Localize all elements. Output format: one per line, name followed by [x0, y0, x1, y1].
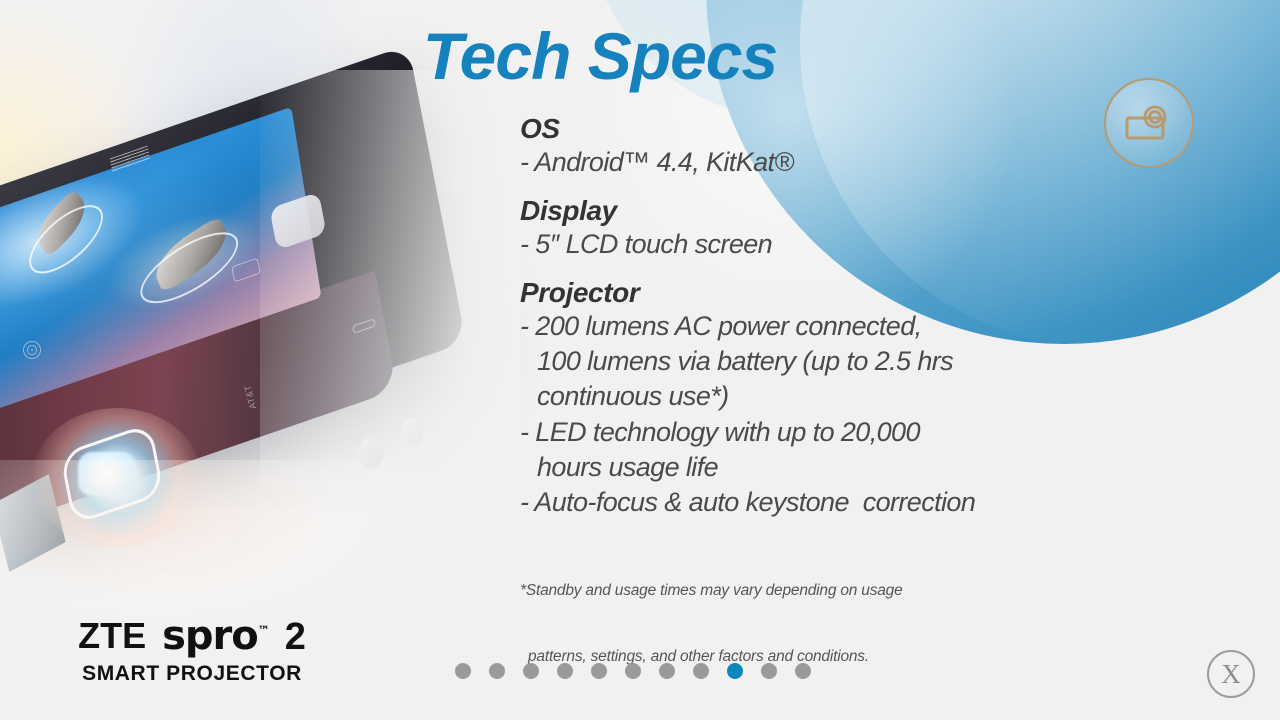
spec-heading: Display [520, 194, 1200, 227]
pagination-dot-3[interactable] [523, 663, 539, 679]
spec-line: - Android™ 4.4, KitKat® [520, 145, 1200, 180]
page-title: Tech Specs [400, 18, 800, 94]
tech-specs-slide: AT&T Tech Specs OS - Android™ 4.4, KitKa… [0, 0, 1280, 720]
pagination-dot-8[interactable] [693, 663, 709, 679]
spec-line: - 5″ LCD touch screen [520, 227, 1200, 262]
projector-icon [1124, 104, 1174, 142]
projector-icon-badge [1104, 78, 1194, 168]
pagination-dot-7[interactable] [659, 663, 675, 679]
pagination-dot-5[interactable] [591, 663, 607, 679]
spec-heading: Projector [520, 276, 1200, 309]
logo-tagline: SMART PROJECTOR [42, 662, 342, 686]
device-fade-overlay [260, 70, 520, 490]
spec-group-display: Display - 5″ LCD touch screen [520, 194, 1200, 262]
spec-list: OS - Android™ 4.4, KitKat® Display - 5″ … [520, 112, 1200, 712]
spec-line: - 200 lumens AC power connected, [520, 309, 1200, 344]
logo-wordmark: ZTE spro™ 2 [42, 618, 342, 656]
footnote-line: *Standby and usage times may vary depend… [520, 580, 1200, 602]
logo-model: 2 [285, 618, 306, 656]
spec-line: 100 lumens via battery (up to 2.5 hrs [520, 344, 1200, 379]
logo-zte: ZTE [78, 618, 146, 654]
footnote: *Standby and usage times may vary depend… [520, 536, 1200, 712]
pagination-dots[interactable] [455, 663, 811, 679]
spec-group-os: OS - Android™ 4.4, KitKat® [520, 112, 1200, 180]
pagination-dot-6[interactable] [625, 663, 641, 679]
spec-heading: OS [520, 112, 1200, 145]
spec-line: hours usage life [520, 450, 1200, 485]
logo-spro-text: spro [162, 613, 258, 659]
pagination-dot-1[interactable] [455, 663, 471, 679]
spec-line: continuous use*) [520, 379, 1200, 414]
spec-group-projector: Projector - 200 lumens AC power connecte… [520, 276, 1200, 520]
pagination-dot-9[interactable] [727, 663, 743, 679]
spec-line: - Auto-focus & auto keystone correction [520, 485, 1200, 520]
pagination-dot-2[interactable] [489, 663, 505, 679]
pagination-dot-11[interactable] [795, 663, 811, 679]
pagination-dot-10[interactable] [761, 663, 777, 679]
logo-trademark: ™ [258, 624, 269, 638]
pagination-dot-4[interactable] [557, 663, 573, 679]
logo-spro: spro™ [162, 618, 269, 656]
spec-line: - LED technology with up to 20,000 [520, 415, 1200, 450]
product-image: AT&T [0, 40, 520, 600]
close-button[interactable]: X [1207, 650, 1255, 698]
brand-logo: ZTE spro™ 2 SMART PROJECTOR [42, 618, 342, 686]
